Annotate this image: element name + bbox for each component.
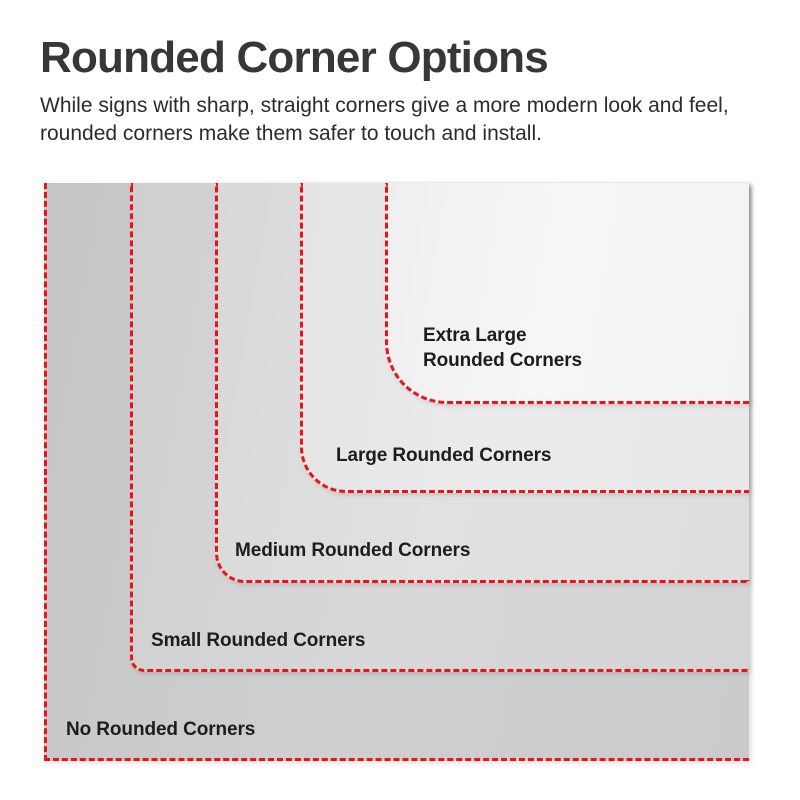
corner-label-medium-rounded: Medium Rounded Corners xyxy=(235,538,470,563)
rounded-corner-diagram: Extra Large Rounded Corners Large Rounde… xyxy=(0,0,800,800)
corner-label-extra-large-rounded: Extra Large Rounded Corners xyxy=(423,323,582,373)
corner-label-small-rounded: Small Rounded Corners xyxy=(151,628,365,653)
corner-label-large-rounded: Large Rounded Corners xyxy=(336,443,551,468)
page-root: Rounded Corner Options While signs with … xyxy=(0,0,800,800)
corner-label-no-rounded: No Rounded Corners xyxy=(66,717,255,742)
